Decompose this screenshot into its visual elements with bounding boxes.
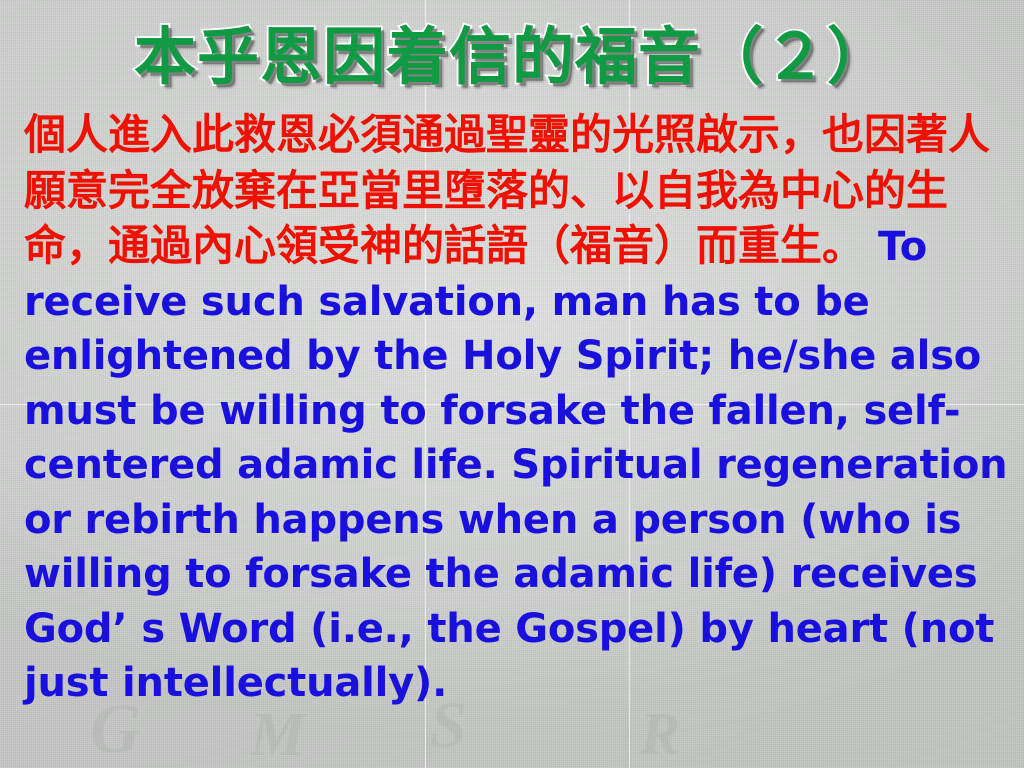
body-text-chinese: 個人進入此救恩必須通過聖靈的光照啟示，也因著人願意完全放棄在亞當里墮落的、以自我… <box>24 110 990 270</box>
body-text-english: To receive such salvation, man has to be… <box>24 224 1007 652</box>
slide-body: 個人進入此救恩必須通過聖靈的光照啟示，也因著人願意完全放棄在亞當里墮落的、以自我… <box>24 108 1012 711</box>
body-text-english-tail: s Word (i.e., the Gospel) by heart (not … <box>24 606 994 707</box>
slide-canvas: G M S R 本乎恩因着信的福音（２） 個人進入此救恩必須通過聖靈的光照啟示，… <box>0 0 1024 768</box>
slide-title: 本乎恩因着信的福音（２） <box>0 18 1024 96</box>
